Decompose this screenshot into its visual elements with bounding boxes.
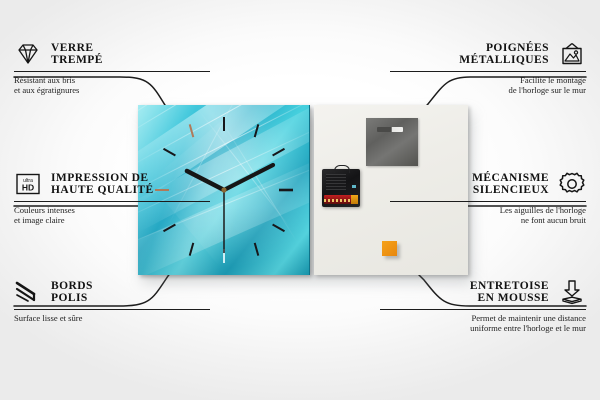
mechanism-hook (334, 165, 350, 173)
battery (324, 195, 358, 204)
wall-frame-icon (558, 40, 586, 68)
callout-title: POIGNÉES MÉTALLIQUES (459, 42, 549, 67)
callout-header: MÉCANISME SILENCIEUX (376, 170, 586, 198)
foam-spacer (382, 241, 397, 256)
callout-divider (14, 71, 210, 72)
callout-title: IMPRESSION DE HAUTE QUALITÉ (51, 172, 154, 197)
callout-divider (390, 201, 586, 202)
callout-description: Couleurs intenses et image claire (14, 205, 224, 226)
callout-header: VERRE TREMPÉ (14, 40, 224, 68)
callout-entretoise-en-mousse: ENTRETOISE EN MOUSSE Permet de maintenir… (376, 278, 586, 334)
hanger-slot (377, 127, 403, 132)
callout-impression-haute-qualite: ultra HD IMPRESSION DE HAUTE QUALITÉ Cou… (14, 170, 224, 226)
glass-edge (309, 105, 310, 275)
callout-description: Facilite le montage de l'horloge sur le … (376, 75, 586, 96)
callout-poignees-metalliques: POIGNÉES MÉTALLIQUES Facilite le montage… (376, 40, 586, 96)
callout-bords-polis: BORDS POLIS Surface lisse et sûre (14, 278, 224, 323)
mechanism-grille (326, 174, 346, 190)
callout-description: Résistant aux bris et aux égratignures (14, 75, 224, 96)
callout-header: POIGNÉES MÉTALLIQUES (376, 40, 586, 68)
callout-divider (380, 309, 586, 310)
callout-divider (390, 71, 586, 72)
callout-divider (14, 309, 210, 310)
ultra-hd-badge-icon: ultra HD (14, 170, 42, 198)
mechanism-indicator (352, 185, 356, 188)
infographic-canvas: VERRE TREMPÉ Résistant aux bris et aux é… (0, 0, 600, 400)
callout-header: ultra HD IMPRESSION DE HAUTE QUALITÉ (14, 170, 224, 198)
gear-icon (558, 170, 586, 198)
callout-description: Les aiguilles de l'horloge ne font aucun… (376, 205, 586, 226)
callout-title: ENTRETOISE EN MOUSSE (470, 280, 549, 305)
callout-description: Surface lisse et sûre (14, 313, 224, 323)
mechanism-box (322, 169, 360, 207)
hanger-plate (366, 118, 418, 166)
diamond-icon (14, 40, 42, 68)
battery-terminal (351, 195, 358, 204)
callout-title: BORDS POLIS (51, 280, 93, 305)
callout-title: VERRE TREMPÉ (51, 42, 103, 67)
polished-edge-icon (14, 278, 42, 306)
callout-header: BORDS POLIS (14, 278, 224, 306)
callout-mecanisme-silencieux: MÉCANISME SILENCIEUX Les aiguilles de l'… (376, 170, 586, 226)
callout-title: MÉCANISME SILENCIEUX (472, 172, 549, 197)
svg-text:HD: HD (22, 183, 34, 193)
callout-description: Permet de maintenir une distance uniform… (376, 313, 586, 334)
callout-verre-trempe: VERRE TREMPÉ Résistant aux bris et aux é… (14, 40, 224, 96)
callout-divider (14, 201, 210, 202)
arrow-onto-pad-icon (558, 278, 586, 306)
callout-header: ENTRETOISE EN MOUSSE (376, 278, 586, 306)
